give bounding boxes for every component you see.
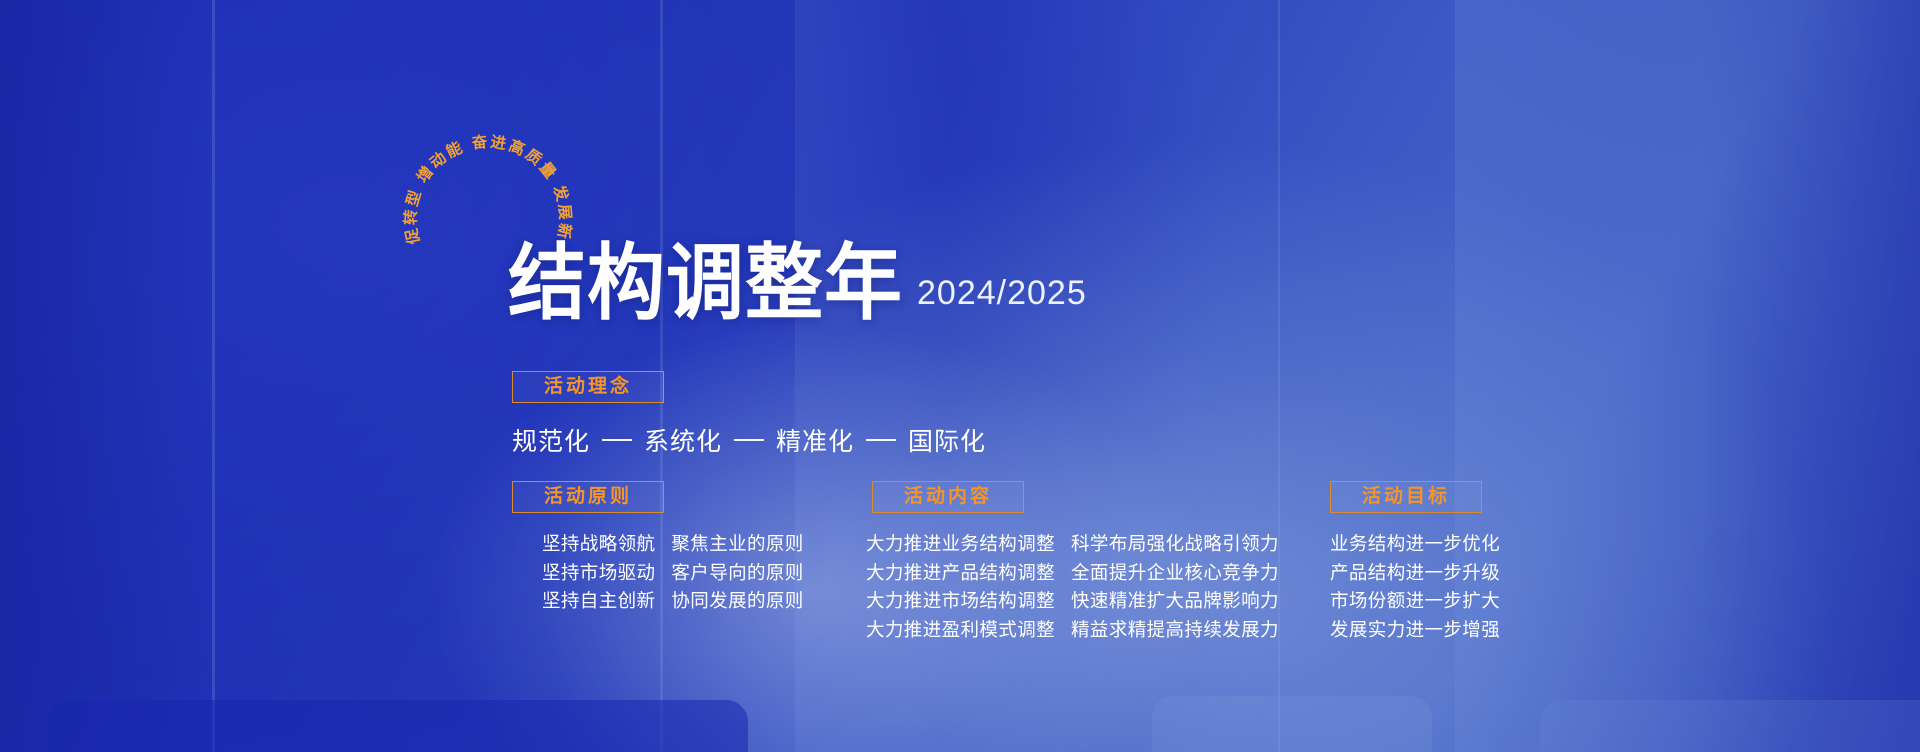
content-row-3-a: 大力推进盈利模式调整 bbox=[866, 616, 1055, 645]
badge-principle[interactable]: 活动原则 bbox=[512, 481, 664, 513]
concept-item-3: 国际化 bbox=[908, 422, 986, 458]
concept-items-list: 规范化 系统化 精准化 国际化 bbox=[512, 422, 986, 458]
principle-list: 坚持战略领航 聚焦主业的原则 坚持市场驱动 客户导向的原则 坚持自主创新 协同发… bbox=[542, 530, 804, 616]
list-item: 大力推进业务结构调整 科学布局强化战略引领力 bbox=[866, 530, 1279, 559]
title-years: 2024/2025 bbox=[917, 274, 1087, 322]
content-row-2-b: 快速精准扩大品牌影响力 bbox=[1071, 587, 1279, 616]
principle-row-1-b: 客户导向的原则 bbox=[671, 559, 803, 588]
list-item: 市场份额进一步扩大 bbox=[1330, 587, 1500, 616]
list-item: 坚持市场驱动 客户导向的原则 bbox=[542, 559, 804, 588]
badge-content[interactable]: 活动内容 bbox=[872, 481, 1024, 513]
content-row-0-b: 科学布局强化战略引领力 bbox=[1071, 530, 1279, 559]
bg-block-1 bbox=[48, 700, 748, 752]
concept-separator-icon bbox=[602, 439, 632, 441]
concept-item-2: 精准化 bbox=[776, 422, 854, 458]
goal-row-1: 产品结构进一步升级 bbox=[1330, 559, 1500, 588]
concept-separator-icon bbox=[866, 439, 896, 441]
content-row-1-a: 大力推进产品结构调整 bbox=[866, 559, 1055, 588]
page-title: 结构调整年 bbox=[508, 244, 903, 323]
content-row-1-b: 全面提升企业核心竞争力 bbox=[1071, 559, 1279, 588]
list-item: 坚持自主创新 协同发展的原则 bbox=[542, 587, 804, 616]
bg-band-left bbox=[0, 0, 215, 752]
title-row: 结构调整年 2024/2025 bbox=[508, 248, 1087, 322]
list-item: 坚持战略领航 聚焦主业的原则 bbox=[542, 530, 804, 559]
circular-slogan-textpath: 促转型 增动能 奋进高质量 发展新征程 bbox=[395, 123, 575, 247]
bg-band-far-right bbox=[1700, 0, 1920, 752]
content-row-2-a: 大力推进市场结构调整 bbox=[866, 587, 1055, 616]
principle-row-1-a: 坚持市场驱动 bbox=[542, 559, 655, 588]
principle-row-0-b: 聚焦主业的原则 bbox=[671, 530, 803, 559]
bg-block-4 bbox=[1152, 696, 1432, 752]
campaign-banner: 促转型 增动能 奋进高质量 发展新征程 结构调整年 2024/2025 活动理念… bbox=[0, 0, 1920, 752]
content-row-0-a: 大力推进业务结构调整 bbox=[866, 530, 1055, 559]
badge-concept[interactable]: 活动理念 bbox=[512, 371, 664, 403]
list-item: 发展实力进一步增强 bbox=[1330, 616, 1500, 645]
list-item: 产品结构进一步升级 bbox=[1330, 559, 1500, 588]
goal-row-3: 发展实力进一步增强 bbox=[1330, 616, 1500, 645]
goal-row-0: 业务结构进一步优化 bbox=[1330, 530, 1500, 559]
concept-item-0: 规范化 bbox=[512, 422, 590, 458]
badge-goal[interactable]: 活动目标 bbox=[1330, 481, 1482, 513]
principle-row-2-b: 协同发展的原则 bbox=[671, 587, 803, 616]
list-item: 大力推进市场结构调整 快速精准扩大品牌影响力 bbox=[866, 587, 1279, 616]
goal-list: 业务结构进一步优化 产品结构进一步升级 市场份额进一步扩大 发展实力进一步增强 bbox=[1330, 530, 1500, 644]
content-list: 大力推进业务结构调整 科学布局强化战略引领力 大力推进产品结构调整 全面提升企业… bbox=[866, 530, 1279, 644]
concept-separator-icon bbox=[734, 439, 764, 441]
concept-item-1: 系统化 bbox=[644, 422, 722, 458]
list-item: 业务结构进一步优化 bbox=[1330, 530, 1500, 559]
list-item: 大力推进盈利模式调整 精益求精提高持续发展力 bbox=[866, 616, 1279, 645]
principle-row-0-a: 坚持战略领航 bbox=[542, 530, 655, 559]
list-item: 大力推进产品结构调整 全面提升企业核心竞争力 bbox=[866, 559, 1279, 588]
bg-line-1 bbox=[212, 0, 215, 752]
content-row-3-b: 精益求精提高持续发展力 bbox=[1071, 616, 1279, 645]
bg-block-3 bbox=[1540, 700, 1920, 752]
goal-row-2: 市场份额进一步扩大 bbox=[1330, 587, 1500, 616]
principle-row-2-a: 坚持自主创新 bbox=[542, 587, 655, 616]
circular-slogan-text: 促转型 增动能 奋进高质量 发展新征程 bbox=[395, 123, 575, 247]
